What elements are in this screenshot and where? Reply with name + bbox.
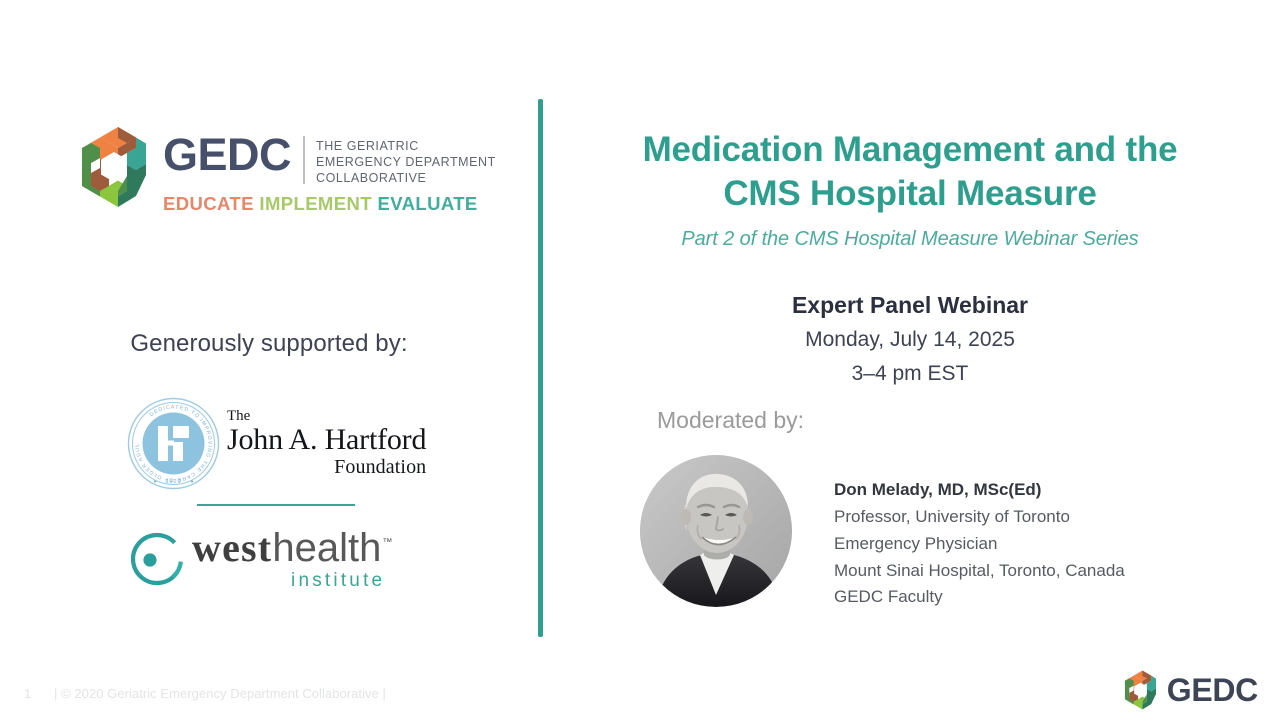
hartford-foundation-word: Foundation [227, 456, 426, 478]
hartford-name: John A. Hartford [227, 425, 426, 456]
webinar-subtitle: Part 2 of the CMS Hospital Measure Webin… [590, 228, 1230, 251]
moderator-line-1: Professor, University of Toronto [834, 504, 1125, 531]
wordmark-rule [303, 136, 305, 184]
gedc-subtitle-line-3: COLLABORATIVE [316, 170, 496, 186]
westhealth-wordmark: west health ™ institute [192, 528, 391, 592]
gedc-wordmark-block: GEDC THE GERIATRIC EMERGENCY DEPARTMENT … [163, 126, 496, 215]
moderator-name: Don Melady, MD, MSc(Ed) [834, 477, 1125, 504]
westhealth-institute: institute [192, 570, 391, 592]
presentation-slide: GEDC THE GERIATRIC EMERGENCY DEPARTMENT … [0, 0, 1280, 723]
hartford-the: The [227, 409, 426, 424]
event-details: Expert Panel Webinar Monday, July 14, 20… [590, 288, 1230, 391]
tagline-evaluate: EVALUATE [378, 193, 478, 214]
gedc-subtitle-line-2: EMERGENCY DEPARTMENT [316, 154, 496, 170]
moderator-line-2: Emergency Physician [834, 531, 1125, 558]
webinar-title-line-2: CMS Hospital Measure [590, 172, 1230, 216]
moderator-info: Don Melady, MD, MSc(Ed) Professor, Unive… [834, 455, 1125, 611]
event-type: Expert Panel Webinar [590, 288, 1230, 323]
left-column: GEDC THE GERIATRIC EMERGENCY DEPARTMENT … [0, 0, 538, 723]
tagline-educate: EDUCATE [163, 193, 254, 214]
tagline-implement: IMPLEMENT [259, 193, 372, 214]
gedc-wordmark: GEDC [163, 134, 291, 177]
gedc-subtitle: THE GERIATRIC EMERGENCY DEPARTMENT COLLA… [316, 134, 496, 186]
trademark-symbol: ™ [382, 537, 392, 548]
webinar-title: Medication Management and the CMS Hospit… [590, 128, 1230, 217]
footer-gedc-wordmark: GEDC [1167, 674, 1258, 706]
supporters-label: Generously supported by: [0, 330, 538, 358]
page-number: 1 [24, 686, 54, 701]
hartford-foundation-logo: DEDICATED TO IMPROVING THE CARE OF OLDER… [126, 396, 426, 491]
westhealth-circle-icon [128, 530, 186, 588]
gedc-hexagon-icon-small [1123, 670, 1158, 710]
hartford-seal-icon: DEDICATED TO IMPROVING THE CARE OF OLDER… [126, 396, 221, 491]
moderated-by-label: Moderated by: [657, 407, 804, 434]
gedc-tagline: EDUCATE IMPLEMENT EVALUATE [163, 193, 496, 215]
copyright-text: | © 2020 Geriatric Emergency Department … [54, 686, 386, 701]
moderator-headshot [640, 455, 792, 607]
event-date: Monday, July 14, 2025 [590, 323, 1230, 357]
event-time: 3–4 pm EST [590, 357, 1230, 391]
gedc-hexagon-icon [78, 126, 150, 208]
westhealth-west: west [192, 528, 272, 568]
moderator-card: Don Melady, MD, MSc(Ed) Professor, Unive… [640, 455, 1125, 611]
moderator-line-4: GEDC Faculty [834, 584, 1125, 611]
svg-text:1929: 1929 [165, 479, 181, 485]
gedc-subtitle-line-1: THE GERIATRIC [316, 138, 496, 154]
westhealth-health: health [272, 528, 381, 568]
webinar-title-line-1: Medication Management and the [590, 128, 1230, 172]
hartford-wordmark: The John A. Hartford Foundation [227, 409, 426, 478]
vertical-divider [538, 99, 543, 637]
right-column: Medication Management and the CMS Hospit… [560, 0, 1260, 723]
footer-gedc-logo: GEDC [1123, 670, 1258, 710]
supporters-divider [197, 504, 355, 506]
moderator-line-3: Mount Sinai Hospital, Toronto, Canada [834, 558, 1125, 585]
gedc-logo: GEDC THE GERIATRIC EMERGENCY DEPARTMENT … [78, 126, 496, 215]
west-health-institute-logo: west health ™ institute [128, 528, 391, 592]
slide-footer: 1 | © 2020 Geriatric Emergency Departmen… [24, 686, 386, 701]
